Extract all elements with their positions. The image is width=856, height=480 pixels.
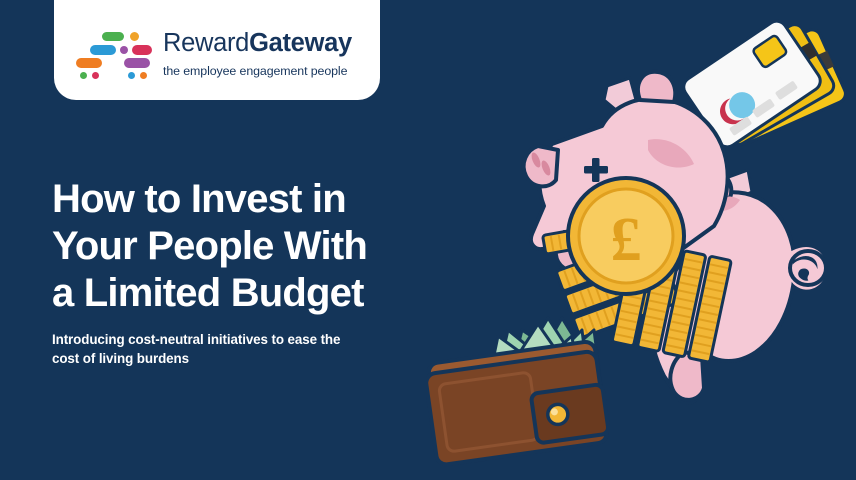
coin-stacks-icon: [543, 221, 732, 362]
title-slide: £: [0, 0, 856, 480]
banknotes-icon: [486, 318, 602, 398]
piggy-eye-icon: [584, 158, 608, 182]
page-subtitle: Introducing cost-neutral initiatives to …: [52, 330, 362, 368]
logo-wordmark-gateway: Gateway: [249, 29, 352, 57]
credit-cards-icon: [680, 17, 848, 150]
ceramic-shards-icon: [604, 78, 752, 322]
wallet-icon: [426, 340, 610, 465]
pound-coin-icon: £: [568, 178, 684, 294]
page-title-line-2: Your People With: [52, 223, 412, 270]
logo-text: RewardGateway the employee engagement pe…: [163, 31, 352, 78]
logo-tagline: the employee engagement people: [163, 65, 352, 77]
piggy-bank-back-icon: [651, 172, 827, 403]
logo-wordmark: RewardGateway: [163, 31, 352, 57]
pound-symbol: £: [611, 206, 642, 274]
logo-wordmark-reward: Reward: [163, 29, 249, 57]
page-title-line-3: a Limited Budget: [52, 270, 412, 317]
illustration-broken-piggy-bank: £: [426, 0, 856, 480]
piggy-bank-front-icon: [524, 72, 728, 270]
logo-card: RewardGateway the employee engagement pe…: [54, 0, 380, 100]
logo-lockup[interactable]: RewardGateway the employee engagement pe…: [76, 31, 352, 78]
reward-gateway-logo-mark-icon: [76, 32, 152, 78]
page-title-line-1: How to Invest in: [52, 176, 412, 223]
page-title: How to Invest in Your People With a Limi…: [52, 176, 412, 318]
